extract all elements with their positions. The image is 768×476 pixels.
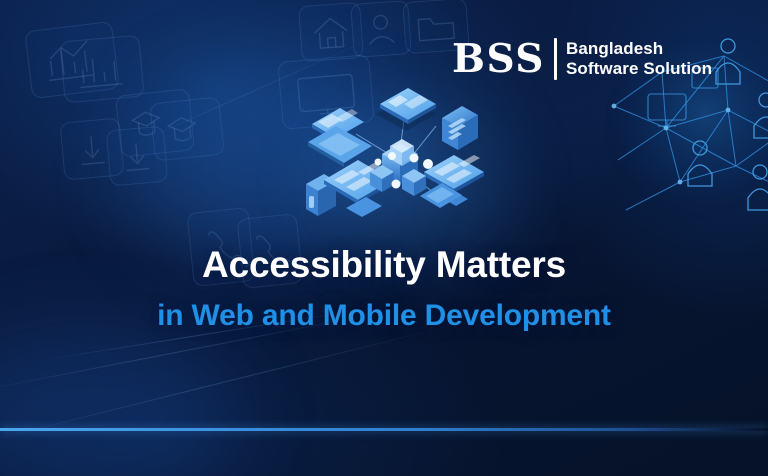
bg-card-graduation-cap — [115, 88, 195, 157]
logo-wordmark: Bangladesh Software Solution — [566, 39, 712, 79]
bg-card-download-2 — [106, 126, 169, 187]
headline-block: Accessibility Matters in Web and Mobile … — [0, 243, 768, 333]
isometric-device-network-illustration — [296, 80, 496, 240]
brand-logo[interactable]: BSS Bangladesh Software Solution — [452, 38, 712, 80]
page-subtitle: in Web and Mobile Development — [0, 298, 768, 333]
logo-line-2: Software Solution — [566, 59, 712, 79]
bg-card-bar-chart-2 — [59, 35, 144, 104]
banner-root: BSS Bangladesh Software Solution — [0, 0, 768, 476]
bg-card-bar-chart — [24, 21, 120, 99]
bg-card-house — [298, 2, 364, 62]
accent-rule — [0, 428, 768, 431]
logo-mark-bss: BSS — [452, 40, 545, 79]
light-streak-2 — [0, 326, 446, 441]
bg-card-download — [60, 117, 125, 180]
bg-card-person — [350, 0, 412, 58]
logo-divider — [554, 38, 557, 80]
glow-bottom-left — [0, 330, 240, 476]
page-title: Accessibility Matters — [0, 243, 768, 287]
bg-card-graduation-cap-2 — [149, 97, 225, 162]
logo-line-1: Bangladesh — [566, 39, 712, 59]
